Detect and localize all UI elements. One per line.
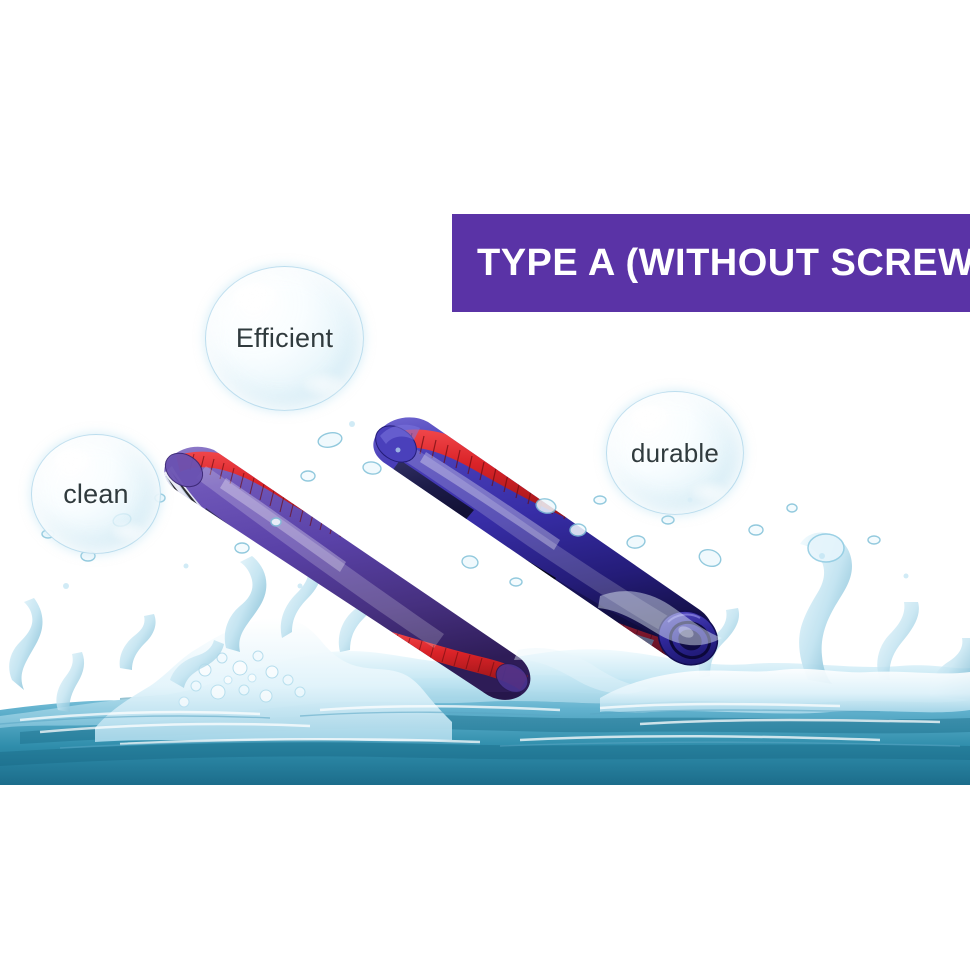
feature-bubble-durable: durable xyxy=(606,391,744,515)
product-banner-image: clean Efficient durable TYPE A (WITHOUT … xyxy=(0,0,970,970)
feature-bubble-efficient: Efficient xyxy=(205,266,364,411)
feature-bubble-clean: clean xyxy=(31,434,161,554)
feature-bubble-efficient-label: Efficient xyxy=(236,323,333,354)
banner-title-text: TYPE A (WITHOUT SCREWS xyxy=(477,244,970,282)
feature-bubble-durable-label: durable xyxy=(631,438,719,469)
product-rollers xyxy=(0,400,970,720)
feature-bubble-clean-label: clean xyxy=(63,479,129,510)
title-banner: TYPE A (WITHOUT SCREWS xyxy=(452,214,970,312)
product-rollers-svg xyxy=(0,400,970,720)
